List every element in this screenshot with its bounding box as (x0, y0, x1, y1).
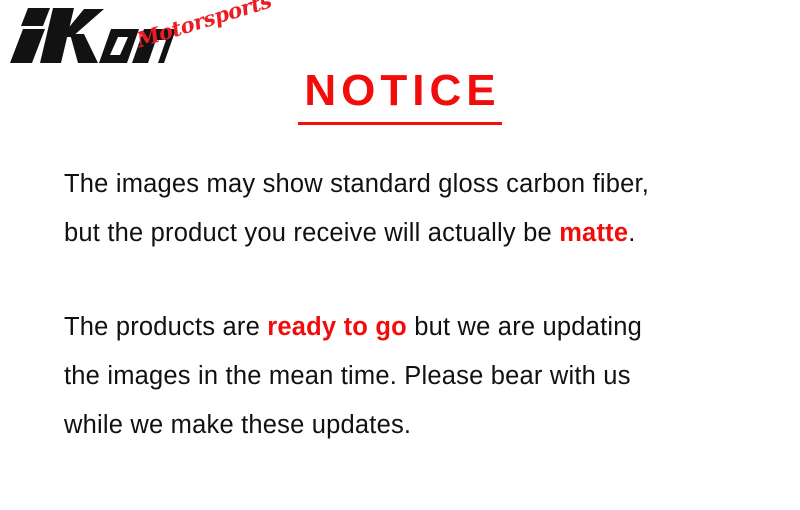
paragraph-1-line-2-lead: but the product you receive will actuall… (64, 219, 559, 247)
paragraph-2-line-1-tail: but we are updating (407, 313, 642, 341)
notice-body: The images may show standard gloss carbo… (64, 160, 764, 450)
title-underline-rule (298, 122, 502, 125)
paragraph-2: The products are ready to go but we are … (64, 303, 764, 450)
highlight-matte: matte (559, 219, 628, 247)
highlight-ready-to-go: ready to go (267, 313, 407, 341)
ikon-motorsports-logo: Motorsports (6, 4, 246, 74)
notice-page: Motorsports NOTICE The images may show s… (0, 0, 800, 510)
notice-heading-block: NOTICE (0, 66, 800, 125)
page-title: NOTICE (299, 66, 500, 116)
paragraph-2-line-3: while we make these updates. (64, 411, 411, 439)
paragraph-1-line-2-tail: . (628, 219, 635, 247)
paragraph-1: The images may show standard gloss carbo… (64, 160, 764, 258)
paragraph-2-line-1-lead: The products are (64, 313, 267, 341)
paragraph-2-line-2: the images in the mean time. Please bear… (64, 362, 631, 390)
paragraph-spacer (64, 258, 764, 303)
paragraph-1-line-1: The images may show standard gloss carbo… (64, 170, 649, 198)
